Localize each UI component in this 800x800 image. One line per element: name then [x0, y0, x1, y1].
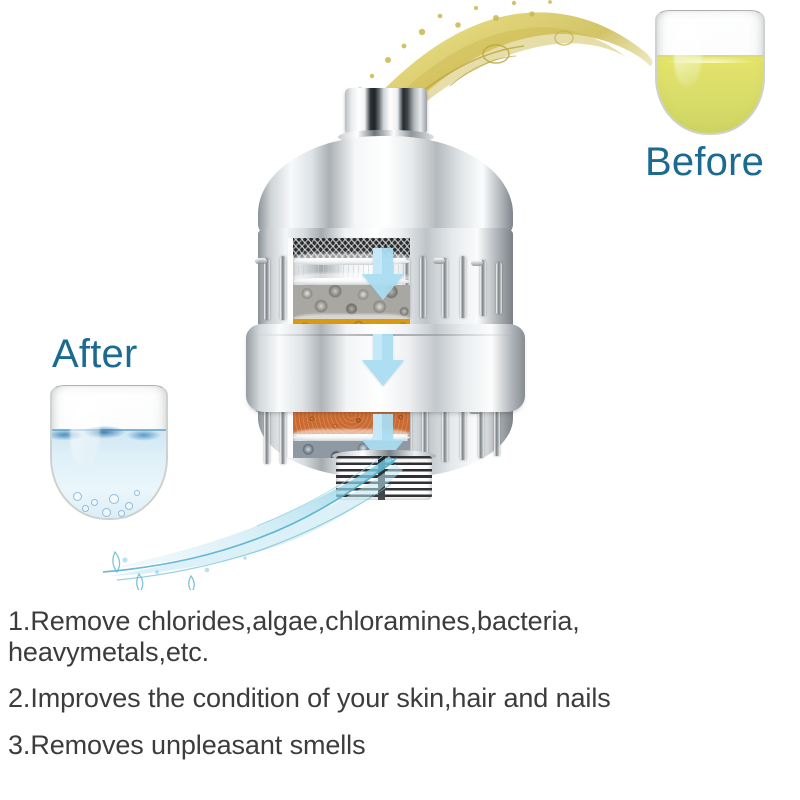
feature-bullet-3: 3.Removes unpleasant smells — [8, 730, 798, 761]
after-glass — [50, 385, 168, 520]
water-bubbles — [52, 474, 166, 514]
glass-highlight — [674, 23, 702, 86]
feature-bullet-2: 2.Improves the condition of your skin,ha… — [8, 683, 798, 714]
outlet-core-shadow — [378, 456, 385, 500]
flow-arrow-down-1 — [360, 248, 406, 300]
after-glass-body — [50, 385, 168, 520]
before-glass — [655, 10, 765, 135]
before-glass-body — [655, 10, 765, 135]
feature-list: 1.Remove chlorides,algae,chloramines,bac… — [8, 606, 798, 777]
chrome-inlet-cap — [345, 88, 427, 133]
water-surface-wave — [50, 424, 168, 442]
threaded-outlet — [336, 456, 432, 500]
after-water-clean — [52, 429, 166, 518]
feature-bullet-1: 1.Remove chlorides,algae,chloramines,bac… — [8, 606, 798, 669]
after-label: After — [52, 332, 137, 377]
before-label: Before — [645, 140, 764, 185]
flow-arrow-down-2 — [360, 334, 406, 386]
before-water-contaminated — [657, 55, 763, 133]
product-infographic: Before After — [0, 0, 800, 800]
glass-highlight — [70, 399, 100, 468]
shower-filter-cartridge — [220, 88, 550, 498]
